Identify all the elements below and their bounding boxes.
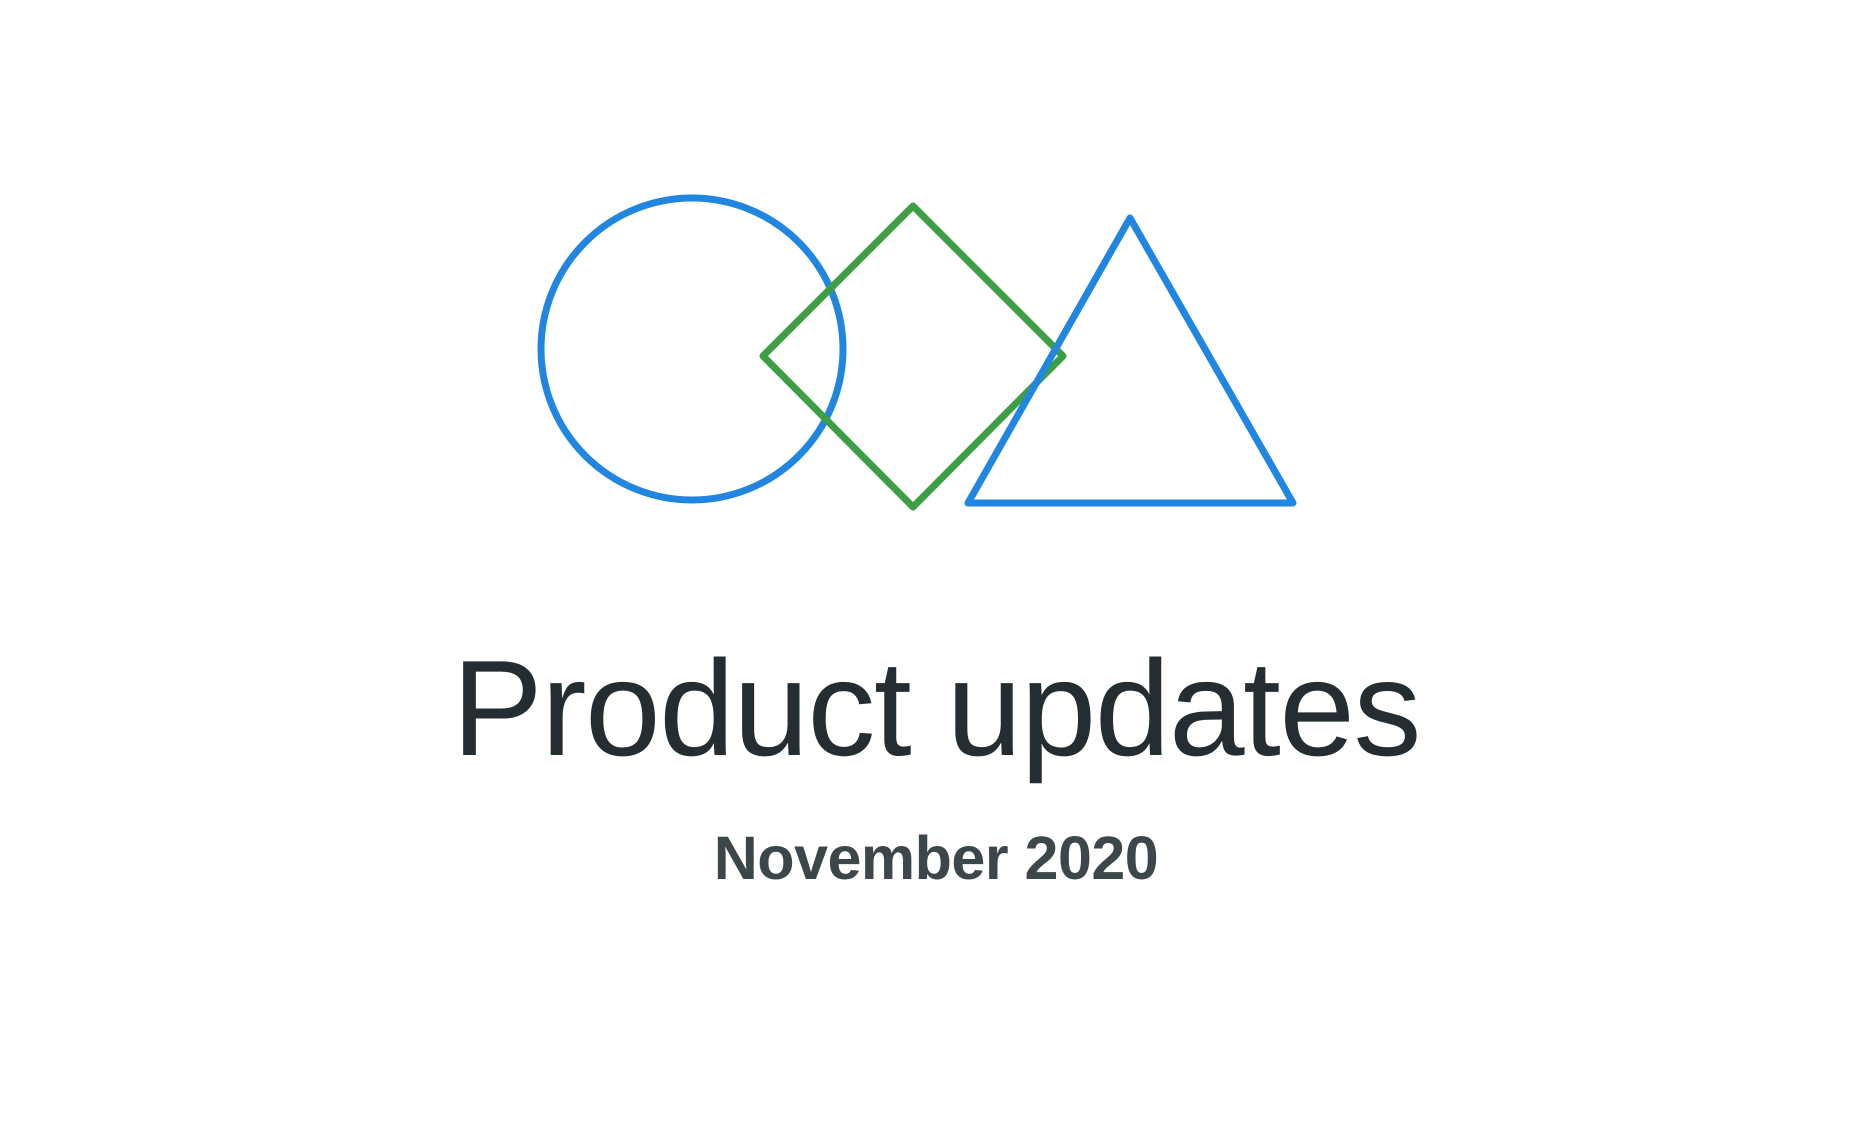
diamond-outline-icon: [763, 206, 1063, 507]
logo-svg: [0, 0, 1872, 620]
circle-outline-icon: [541, 198, 843, 500]
slide-canvas: Product updates November 2020: [0, 0, 1872, 1142]
triangle-outline-icon: [968, 218, 1293, 503]
page-title: Product updates: [0, 640, 1872, 776]
title-text-block: Product updates November 2020: [0, 640, 1872, 889]
three-shapes-logo: [0, 0, 1872, 620]
page-subtitle: November 2020: [0, 776, 1872, 889]
